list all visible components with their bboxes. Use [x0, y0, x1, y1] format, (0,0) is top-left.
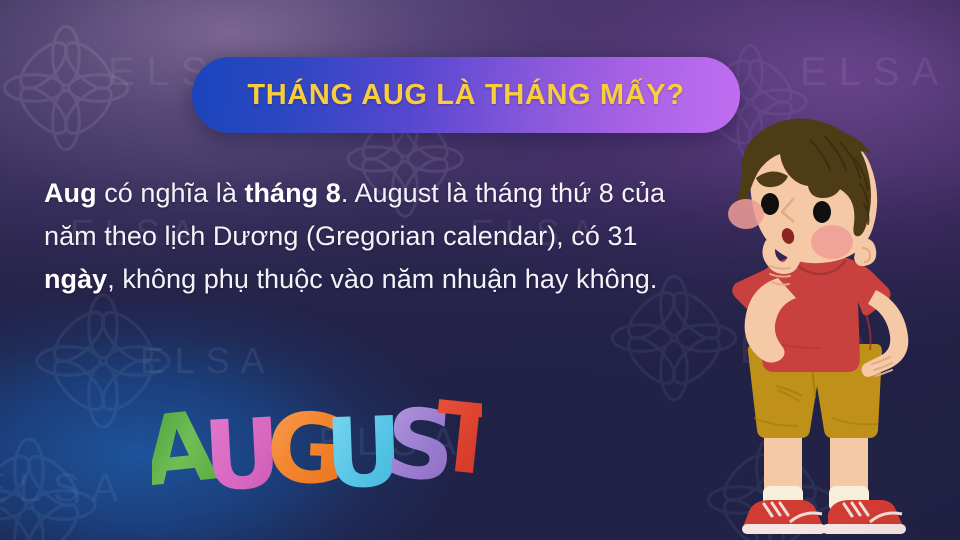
body-text-strong: Aug — [44, 178, 97, 208]
boy-eye-right — [813, 201, 831, 223]
thinking-boy-character — [690, 118, 960, 540]
body-text-run: , không phụ thuộc vào năm nhuận hay khôn… — [107, 264, 657, 294]
slide-canvas: ELSA ELSA ELSA ELSA ELSA ELSA ELSA ELSA … — [0, 0, 960, 540]
body-text-run: có nghĩa là — [97, 178, 245, 208]
body-text-strong: tháng 8 — [244, 178, 340, 208]
boy-cheek-left — [728, 199, 764, 229]
boy-hip-arm — [862, 290, 909, 377]
boy-shoes — [742, 500, 906, 534]
page-title: THÁNG AUG LÀ THÁNG MẤY? — [247, 79, 684, 112]
title-banner: THÁNG AUG LÀ THÁNG MẤY? — [192, 57, 740, 133]
boy-cheek-right — [811, 225, 853, 259]
body-paragraph: Aug có nghĩa là tháng 8. August là tháng… — [44, 172, 694, 301]
body-text-strong: ngày — [44, 264, 107, 294]
august-wordart: A U G U S T — [152, 382, 482, 502]
boy-head — [728, 119, 877, 266]
